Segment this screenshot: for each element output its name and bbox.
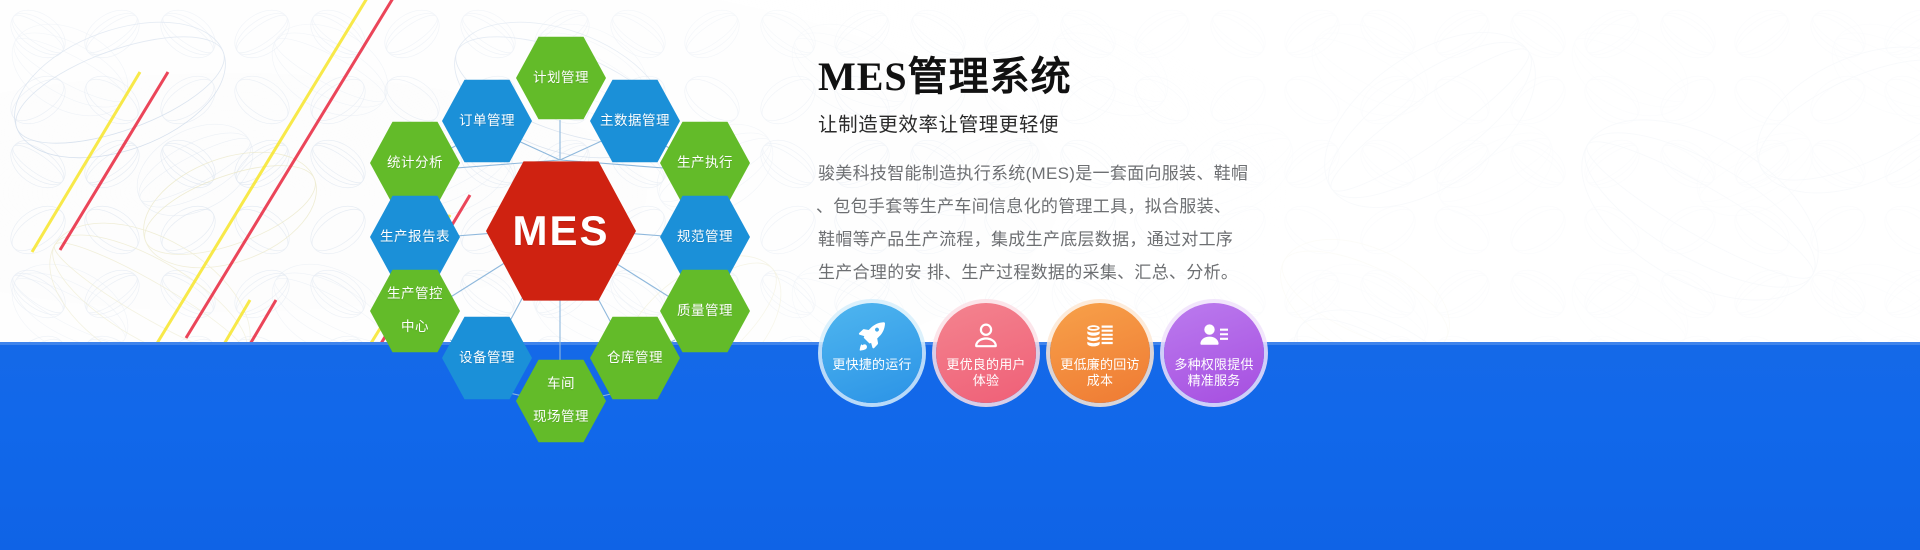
badge-caption-line2: 精准服务 (1188, 373, 1241, 388)
hex-label: 设备管理 (453, 350, 521, 367)
core-label: MES (506, 205, 615, 258)
contact-icon (1197, 319, 1231, 353)
badge-caption-line2: 体验 (973, 373, 999, 388)
badge-caption-line1: 更低廉的回访 (1060, 357, 1139, 372)
badge-caption-line1: 多种权限提供 (1174, 357, 1253, 372)
feature-badge-row: 更快捷的运行 更优良的用户 体验 更低廉的回访 成本 (822, 303, 1264, 403)
hex-label: 规范管理 (671, 229, 739, 246)
hex-label: 质量管理 (671, 303, 739, 320)
hex-label-line1: 车间 (527, 376, 595, 393)
badge-caption: 更优良的用户 体验 (938, 357, 1033, 389)
hex-label-line2: 中心 (381, 319, 449, 336)
badge-faster-operation[interactable]: 更快捷的运行 (822, 303, 922, 403)
hex-label: 统计分析 (381, 155, 449, 172)
badge-multiple-permissions[interactable]: 多种权限提供 精准服务 (1164, 303, 1264, 403)
mes-hex-diagram: 计划管理 订单管理 主数据管理 统计分析 生产执行 生产报告表 规范管理 生产管… (330, 10, 800, 440)
coins-icon (1083, 319, 1117, 353)
hex-label: 生产管控 中心 (375, 286, 455, 337)
hex-label: 生产报告表 (374, 229, 456, 246)
hex-label: 订单管理 (453, 113, 521, 130)
subheadline: 让制造更效率让管理更轻便 (818, 108, 1818, 137)
badge-caption: 更低廉的回访 成本 (1052, 357, 1147, 389)
paragraph-line: 骏美科技智能制造执行系统(MES)是一套面向服装、鞋帽 (818, 157, 1268, 190)
badge-caption-line2: 成本 (1087, 373, 1113, 388)
description-paragraph: 骏美科技智能制造执行系统(MES)是一套面向服装、鞋帽 、包包手套等生产车间信息… (818, 157, 1268, 289)
paragraph-line: 鞋帽等产品生产流程，集成生产底层数据，通过对工序 (818, 223, 1268, 256)
hex-label: 主数据管理 (594, 113, 676, 130)
user-icon (969, 319, 1003, 353)
rocket-icon (855, 319, 889, 353)
hex-label-line1: 生产管控 (381, 286, 449, 303)
hex-label: 仓库管理 (601, 350, 669, 367)
hex-label: 车间 现场管理 (521, 376, 601, 427)
hex-label: 计划管理 (527, 70, 595, 87)
badge-better-user-experience[interactable]: 更优良的用户 体验 (936, 303, 1036, 403)
badge-lower-revisit-cost[interactable]: 更低廉的回访 成本 (1050, 303, 1150, 403)
paragraph-line: 、包包手套等生产车间信息化的管理工具，拟合服装、 (818, 190, 1268, 223)
hex-label-line2: 现场管理 (527, 409, 595, 426)
headline: MES管理系统 (818, 55, 1818, 99)
badge-caption-line1: 更快捷的运行 (832, 357, 911, 372)
hex-label: 生产执行 (671, 155, 739, 172)
copy-block: MES管理系统 让制造更效率让管理更轻便 骏美科技智能制造执行系统(MES)是一… (818, 55, 1818, 289)
banner: 计划管理 订单管理 主数据管理 统计分析 生产执行 生产报告表 规范管理 生产管… (0, 0, 1920, 550)
badge-caption: 多种权限提供 精准服务 (1166, 357, 1261, 389)
badge-caption: 更快捷的运行 (824, 357, 919, 373)
paragraph-line: 生产合理的安 排、生产过程数据的采集、汇总、分析。 (818, 256, 1268, 289)
badge-caption-line1: 更优良的用户 (946, 357, 1025, 372)
